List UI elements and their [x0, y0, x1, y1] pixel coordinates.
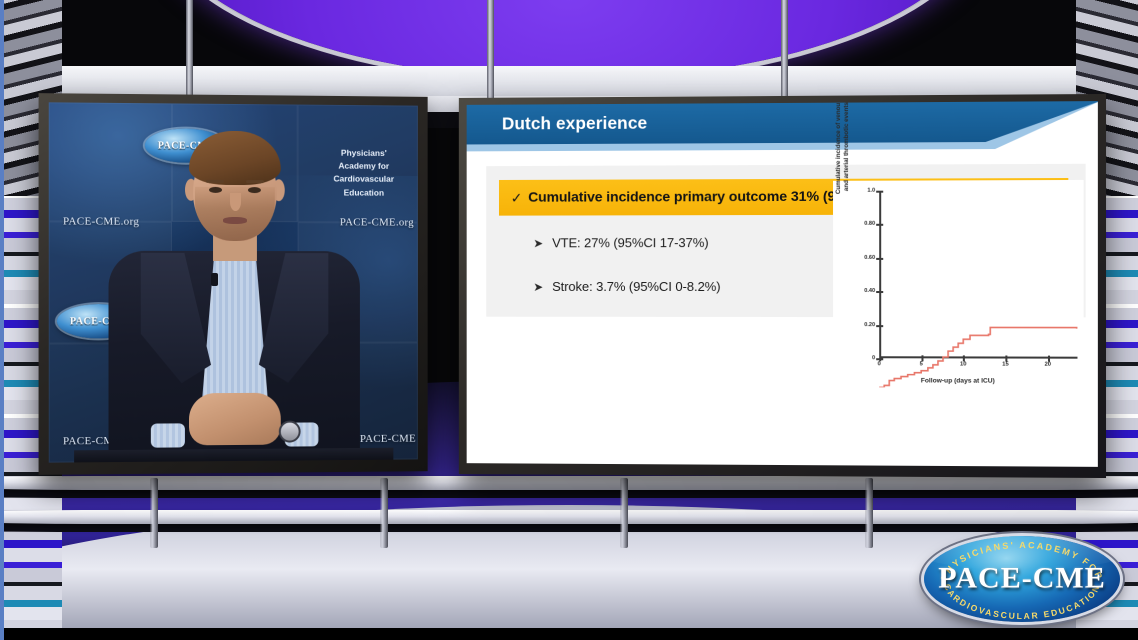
slide-monitor[interactable]: Dutch experience ✓ Cumulative incidence … — [459, 94, 1106, 478]
presentation-slide: Dutch experience ✓ Cumulative incidence … — [467, 101, 1098, 467]
railing-post — [150, 478, 158, 548]
bullet-item-stroke: ➤ Stroke: 3.7% (95%CI 0-8.2%) — [533, 279, 720, 294]
chart-y-tick-label: 0 — [872, 355, 875, 361]
shirt-cuff — [151, 423, 185, 447]
bullet-text: Stroke: 3.7% (95%CI 0-8.2%) — [552, 279, 720, 294]
bullet-text: VTE: 27% (95%CI 17-37%) — [552, 235, 708, 250]
studio-railing-upper — [0, 476, 1138, 490]
chart-y-axis-label: Cumulative incidence of venous and arter… — [835, 101, 849, 199]
cumulative-incidence-chart: Cumulative incidence of venous and arter… — [833, 180, 1084, 387]
presenter-desk — [74, 448, 393, 463]
chart-y-tick-label: 0.60 — [864, 255, 875, 261]
railing-post — [620, 478, 628, 548]
presenter-nose — [230, 193, 241, 211]
video-screen: PACE-CME PACE-CME PACE-CME PACE-CME PACE… — [49, 102, 418, 462]
railing-post — [380, 478, 388, 548]
presenter-eyebrow — [246, 180, 264, 183]
presenter-hair — [189, 131, 281, 186]
chart-plot-area: 00.200.400.600.801.0 05101520 — [879, 190, 1077, 359]
chart-curve — [879, 190, 1077, 388]
presenter-mouth — [223, 217, 247, 224]
lapel-microphone — [211, 273, 218, 286]
presenter-eye — [248, 187, 261, 193]
presenter-hands — [189, 393, 281, 446]
studio-railing-lower — [0, 510, 1138, 524]
presenter-eye — [209, 187, 222, 193]
presenter-eyebrow — [206, 180, 224, 183]
arrow-bullet-icon: ➤ — [533, 237, 543, 249]
presenter-video-monitor[interactable]: PACE-CME PACE-CME PACE-CME PACE-CME PACE… — [39, 93, 428, 475]
chart-y-tick-label: 0.80 — [864, 221, 875, 227]
pace-cme-corner-logo: PHYSICIANS' ACADEMY FOR CARDIOVASCULAR E… — [924, 536, 1120, 622]
presenter-figure — [84, 130, 383, 462]
slide-title: Dutch experience — [502, 113, 647, 135]
arrow-bullet-icon: ➤ — [533, 281, 543, 293]
chart-y-tick-label: 1.0 — [867, 188, 875, 194]
left-edge-accent — [0, 0, 4, 640]
chart-x-axis-label: Follow-up (days at ICU) — [833, 377, 1084, 385]
logo-wordmark: PACE-CME — [924, 561, 1120, 595]
chart-y-tick-label: 0.20 — [864, 322, 875, 328]
bottom-letterbox-bar — [0, 628, 1138, 640]
studio-scene: PACE-CME PACE-CME PACE-CME PACE-CME PACE… — [0, 0, 1138, 640]
wristwatch — [279, 421, 301, 443]
railing-post — [865, 478, 873, 548]
checkmark-icon: ✓ — [511, 189, 523, 206]
chart-y-tick-label: 0.40 — [864, 288, 875, 294]
bullet-item-vte: ➤ VTE: 27% (95%CI 17-37%) — [533, 235, 708, 250]
